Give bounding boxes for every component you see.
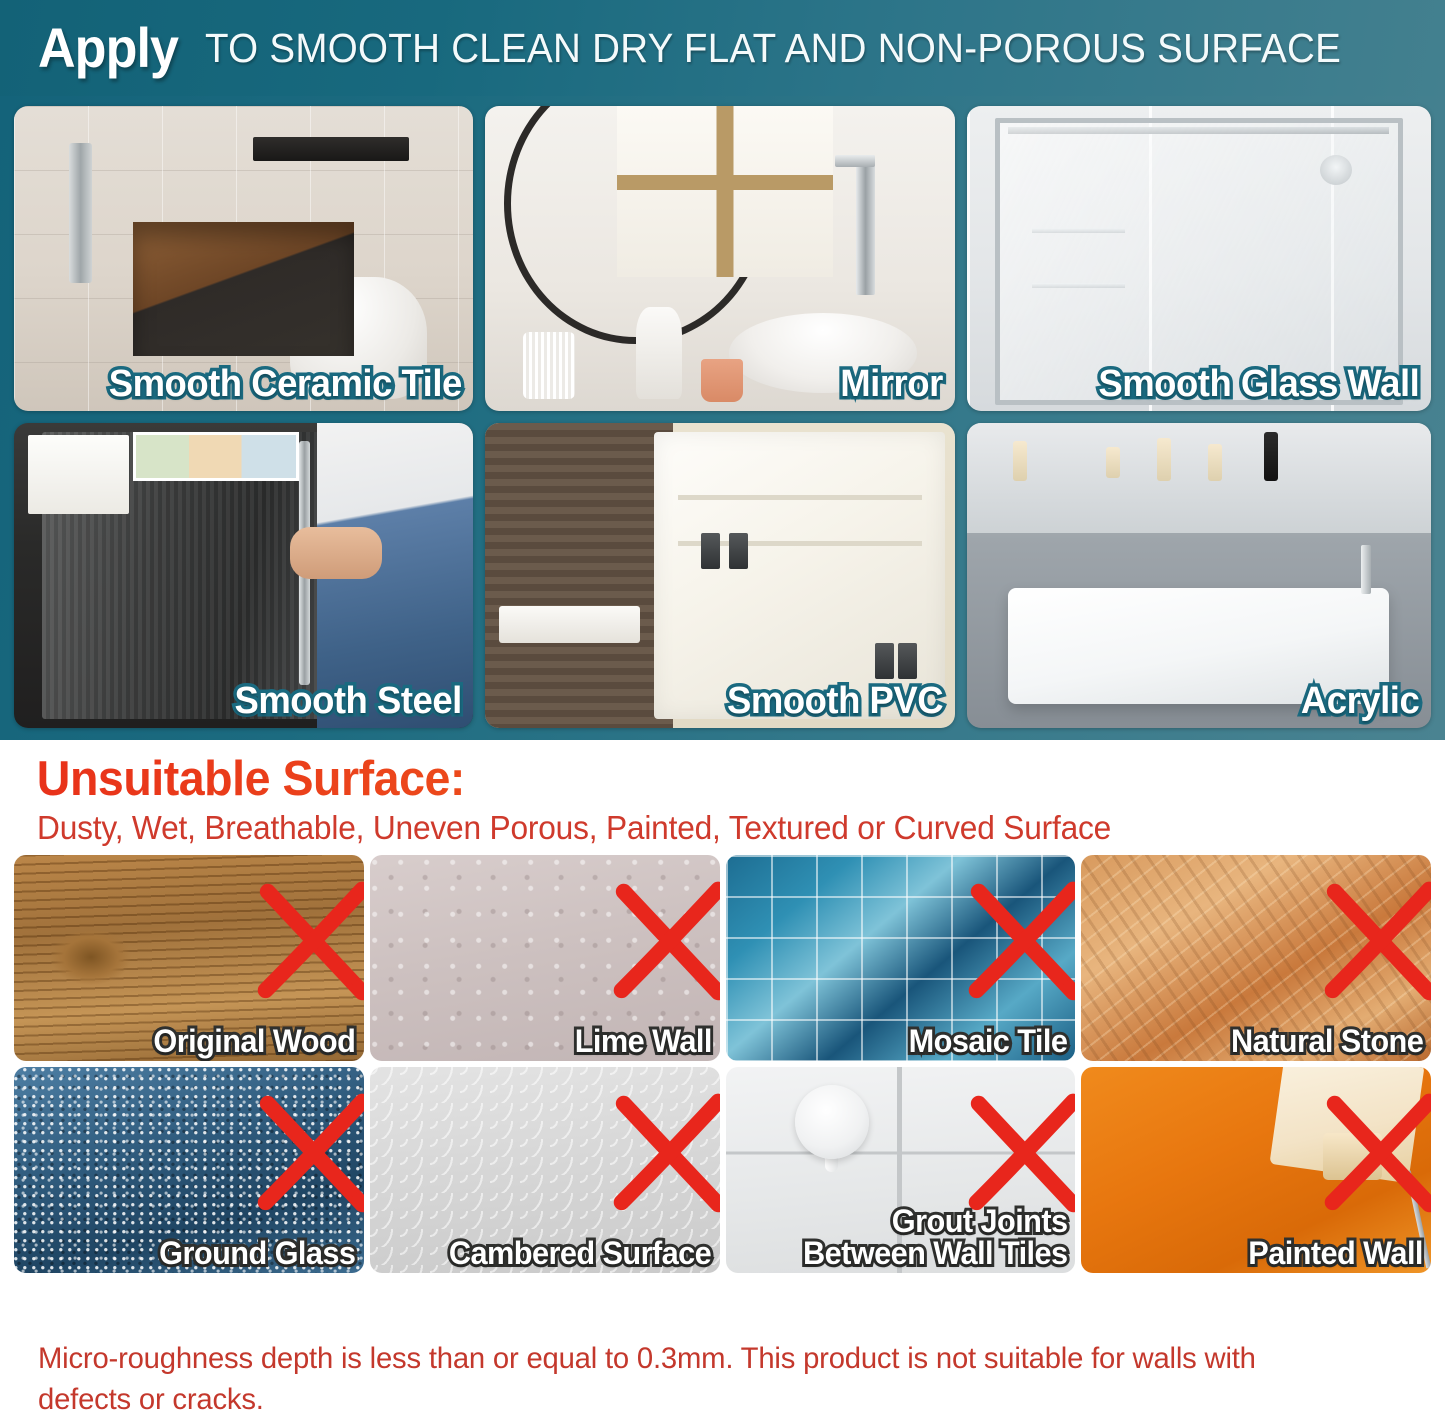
unsuitable-tile-mosaic-tile: Mosaic Tile	[726, 855, 1076, 1061]
note-paper-overlay	[28, 435, 129, 514]
shower-fixture-overlay	[69, 143, 92, 283]
suction-hook-overlay	[825, 1120, 838, 1172]
suitable-tile-label: Smooth Steel	[234, 682, 461, 722]
unsuitable-surfaces-section: Unsuitable Surface: Dusty, Wet, Breathab…	[0, 740, 1445, 1409]
header-banner: Apply TO SMOOTH CLEAN DRY FLAT AND NON-P…	[0, 0, 1445, 96]
unsuitable-tile-label: Original Wood	[154, 1025, 356, 1057]
vanity-cabinet-overlay	[485, 423, 673, 728]
unsuitable-tile-label-line2: Between Wall Tiles	[803, 1235, 1067, 1271]
suitable-tile-label: Smooth Ceramic Tile	[108, 365, 461, 405]
terracotta-pot-overlay	[701, 359, 743, 402]
bottle-overlay	[729, 533, 748, 570]
perfume-bottle-overlay	[1208, 444, 1222, 481]
arm-overlay	[290, 527, 382, 579]
suitable-row-2: Smooth Steel Smooth PVC	[14, 423, 1431, 728]
wall-shelf-overlay	[253, 137, 409, 161]
suitable-tile-label: Mirror	[840, 365, 943, 405]
candle-overlay	[1106, 447, 1120, 478]
unsuitable-tile-lime-wall: Lime Wall	[370, 855, 720, 1061]
unsuitable-row-2: Ground Glass Cambered Surface	[14, 1067, 1431, 1273]
suitable-tile-smooth-glass-wall: Smooth Glass Wall	[967, 106, 1431, 411]
footnote-text: Micro-roughness depth is less than or eq…	[38, 1338, 1345, 1421]
glass-shelf-overlay	[1032, 283, 1125, 288]
header-emphasis-text: Apply	[38, 20, 178, 76]
fridge-magnets-overlay	[133, 432, 298, 481]
glass-shelf-overlay	[1032, 228, 1125, 233]
unsuitable-subtitle: Dusty, Wet, Breathable, Uneven Porous, P…	[14, 809, 1374, 847]
orchid-pot-overlay	[1264, 432, 1278, 481]
unsuitable-tile-painted-wall: Painted Wall	[1081, 1067, 1431, 1273]
suitable-tile-smooth-pvc: Smooth PVC	[485, 423, 954, 728]
bath-tap-overlay	[1361, 545, 1370, 594]
suitable-surfaces-section: Smooth Ceramic Tile Mirror Smooth Glass …	[0, 96, 1445, 740]
unsuitable-tile-label: Ground Glass	[160, 1237, 356, 1269]
bottle-overlay	[898, 643, 917, 680]
unsuitable-tile-label: Grout Joints Between Wall Tiles	[803, 1205, 1067, 1269]
paint-roller-overlay	[1323, 1133, 1382, 1180]
suitable-row-1: Smooth Ceramic Tile Mirror Smooth Glass …	[14, 106, 1431, 411]
suitable-tile-acrylic: Acrylic	[967, 423, 1431, 728]
unsuitable-tile-label: Cambered Surface	[449, 1237, 711, 1269]
reed-diffuser-overlay	[1013, 441, 1027, 481]
sink-overlay	[499, 606, 640, 643]
suitable-tile-smooth-ceramic-tile: Smooth Ceramic Tile	[14, 106, 473, 411]
suitable-tile-mirror: Mirror	[485, 106, 954, 411]
bottle-overlay	[875, 643, 894, 680]
slider-rail-overlay	[1008, 127, 1389, 134]
unsuitable-tile-label: Mosaic Tile	[909, 1025, 1068, 1057]
suitable-tile-label: Acrylic	[1301, 682, 1419, 722]
unsuitable-tile-natural-stone: Natural Stone	[1081, 855, 1431, 1061]
unsuitable-grid: Original Wood Lime Wall Mosaic Til	[14, 855, 1431, 1273]
soap-bottle-overlay	[636, 307, 683, 399]
suitable-tile-label: Smooth PVC	[727, 682, 943, 722]
unsuitable-tile-cambered-surface: Cambered Surface	[370, 1067, 720, 1273]
unsuitable-row-1: Original Wood Lime Wall Mosaic Til	[14, 855, 1431, 1061]
toothbrush-cup-overlay	[523, 332, 575, 399]
unsuitable-tile-label: Natural Stone	[1231, 1025, 1423, 1057]
unsuitable-tile-grout-joints: Grout Joints Between Wall Tiles	[726, 1067, 1076, 1273]
suitable-tile-smooth-steel: Smooth Steel	[14, 423, 473, 728]
unsuitable-tile-label: Lime Wall	[574, 1025, 711, 1057]
suitable-tile-label: Smooth Glass Wall	[1098, 365, 1419, 405]
tall-faucet-overlay	[856, 155, 875, 295]
unsuitable-tile-label: Painted Wall	[1248, 1237, 1423, 1269]
shower-head-overlay	[1320, 155, 1353, 186]
unsuitable-tile-ground-glass: Ground Glass	[14, 1067, 364, 1273]
perfume-bottle-overlay	[1157, 438, 1171, 481]
window-overlay	[617, 106, 833, 277]
header-subtitle-text: TO SMOOTH CLEAN DRY FLAT AND NON-POROUS …	[205, 28, 1341, 69]
unsuitable-tile-original-wood: Original Wood	[14, 855, 364, 1061]
unsuitable-tile-label-line1: Grout Joints	[892, 1203, 1068, 1239]
unsuitable-heading: Unsuitable Surface:	[14, 754, 1360, 806]
bottle-overlay	[701, 533, 720, 570]
